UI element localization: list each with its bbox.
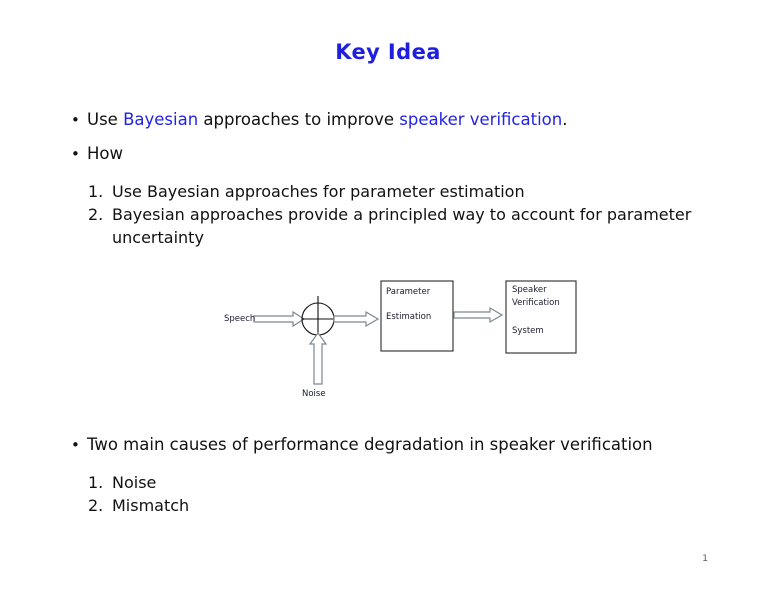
list-item: 2. Bayesian approaches provide a princip… xyxy=(88,203,718,249)
ordered-list-causes: 1. Noise 2. Mismatch xyxy=(88,471,488,517)
list-item-number: 1. xyxy=(88,471,112,494)
list-item-number: 1. xyxy=(88,180,112,203)
diagram-label-noise: Noise xyxy=(302,389,326,399)
bullet-two-main-causes: • Two main causes of performance degrada… xyxy=(71,434,653,456)
bullet-seg-plain-3: . xyxy=(562,110,567,129)
list-item-number: 2. xyxy=(88,494,112,517)
bullet-marker-icon: • xyxy=(71,109,87,131)
bullet-seg-highlight-speaker-verification: speaker verification xyxy=(399,110,562,129)
verification-box-line3: System xyxy=(512,325,544,337)
verification-box-line2: Verification xyxy=(512,297,560,309)
arrow-parameter-to-verification xyxy=(454,308,502,322)
arrow-noise-to-sum xyxy=(310,333,326,384)
bullet-use-bayesian: • Use Bayesian approaches to improve spe… xyxy=(71,109,567,131)
parameter-box-line1: Parameter xyxy=(386,286,430,298)
list-item-number: 2. xyxy=(88,203,112,226)
ordered-list-how: 1. Use Bayesian approaches for parameter… xyxy=(88,180,718,249)
arrow-speech-to-sum xyxy=(254,312,304,326)
bullet-seg-plain-2: approaches to improve xyxy=(198,110,399,129)
page-number: 1 xyxy=(702,554,708,564)
block-diagram: Speech Noise Parameter Estimation Speake… xyxy=(218,272,590,407)
page-title: Key Idea xyxy=(0,40,776,64)
bullet-seg-plain-1: Use xyxy=(87,110,123,129)
list-item-label: Mismatch xyxy=(112,494,189,517)
bullet-marker-icon: • xyxy=(71,143,87,165)
list-item-label: Bayesian approaches provide a principled… xyxy=(112,203,718,249)
list-item-label: Noise xyxy=(112,471,156,494)
parameter-box-line2: Estimation xyxy=(386,311,431,323)
bullet-two-main-causes-text: Two main causes of performance degradati… xyxy=(87,434,653,456)
list-item: 1. Noise xyxy=(88,471,488,494)
bullet-how: • How xyxy=(71,143,123,165)
diagram-label-speech: Speech xyxy=(224,314,255,324)
bullet-use-bayesian-text: Use Bayesian approaches to improve speak… xyxy=(87,109,567,131)
bullet-marker-icon: • xyxy=(71,434,87,456)
arrow-sum-to-parameter-estimation xyxy=(334,312,378,326)
list-item-label: Use Bayesian approaches for parameter es… xyxy=(112,180,525,203)
list-item: 1. Use Bayesian approaches for parameter… xyxy=(88,180,718,203)
bullet-how-text: How xyxy=(87,143,123,165)
list-item: 2. Mismatch xyxy=(88,494,488,517)
bullet-seg-highlight-bayesian: Bayesian xyxy=(123,110,198,129)
verification-box-line1: Speaker xyxy=(512,284,547,296)
